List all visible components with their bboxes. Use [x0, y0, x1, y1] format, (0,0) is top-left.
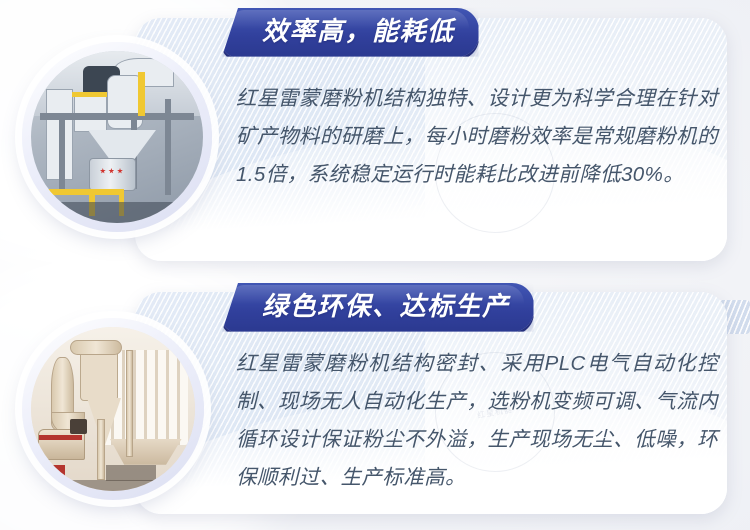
feature-photo-environment: [22, 318, 204, 500]
feature-banner-environment: 绿色环保、达标生产: [222, 283, 534, 332]
feature-photo-efficiency: [22, 42, 212, 232]
feature-banner-efficiency: 效率高，能耗低: [222, 8, 479, 57]
banner-label-environment: 绿色环保、达标生产: [222, 283, 534, 332]
raymond-mill-illustration: [31, 327, 195, 491]
feature-body-efficiency: 红星雷蒙磨粉机结构独特、设计更为科学合理在针对矿产物料的研磨上，每小时磨粉效率是…: [236, 80, 718, 194]
feature-body-environment: 红星雷蒙磨粉机结构密封、采用PLC电气自动化控制、现场无人自动化生产，选粉机变频…: [236, 345, 718, 497]
mill-plant-illustration: [31, 51, 203, 223]
banner-label-efficiency: 效率高，能耗低: [222, 8, 479, 57]
photo-clip-environment: [31, 327, 195, 491]
photo-clip-efficiency: [31, 51, 203, 223]
promo-banner-page: 红星机器 红星雷蒙磨粉机结构独特、设计更为科学合理在针对矿产物料的研磨上，每小时…: [0, 0, 750, 530]
